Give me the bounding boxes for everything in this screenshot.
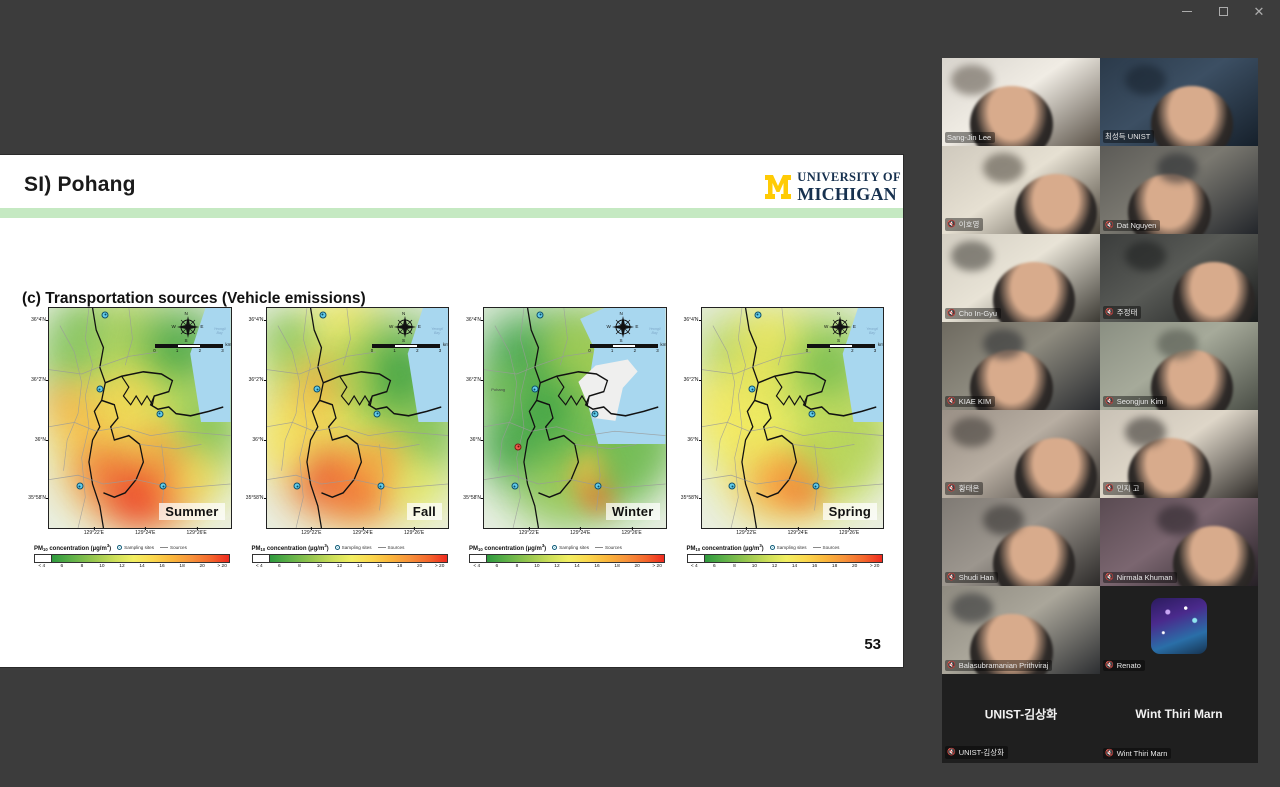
muted-mic-icon: 🔇 (947, 221, 956, 228)
legend-sampling-sites: Sampling sites (552, 545, 589, 550)
colorbar-legend: PM10 concentration (µg/m3) Sampling site… (34, 543, 230, 572)
participant-name: Nirmala Khuman (1117, 573, 1173, 582)
colorbar-tick: 18 (397, 564, 402, 569)
colorbar-tick: 14 (574, 564, 579, 569)
y-axis: 36°4'N36°2'N36°N35°58'N (675, 307, 701, 529)
y-axis: 36°4'N36°2'N36°N35°58'N (240, 307, 266, 529)
scalebar-tick: 1 (176, 348, 178, 353)
participant-tile[interactable]: 최성득 UNIST (1100, 58, 1258, 146)
y-axis: 36°4'N36°2'N36°N35°58'N (457, 307, 483, 529)
colorbar-tick: 6 (496, 564, 499, 569)
x-tick-label: 129°24'E (135, 530, 155, 536)
legend-sampling-sites: Sampling sites (770, 545, 807, 550)
participant-tile[interactable]: Wint Thiri Marn 🔇 Wint Thiri Marn (1100, 674, 1258, 762)
map-scalebar: 0123 km (807, 344, 875, 356)
place-label: Pohang (491, 387, 505, 392)
colorbar-tick: 8 (516, 564, 519, 569)
legend-sampling-sites: Sampling sites (335, 545, 372, 550)
participant-name: Wint Thiri Marn (1117, 749, 1168, 758)
concentration-map: N S E W YeongilBay Pohang (483, 307, 667, 529)
colorbar-tick: < 4 (256, 564, 263, 569)
colorbar-tick: 16 (812, 564, 817, 569)
colorbar-tick: 12 (337, 564, 342, 569)
zoom-meeting-window: ✕ SI) Pohang UNIVERSITY OF MICHIGAN (0, 0, 1280, 787)
season-label: Fall (407, 503, 442, 520)
sampling-site-marker (294, 483, 301, 490)
participant-name-badge: 🔇 Seongjun Kim (1103, 396, 1167, 407)
sampling-site-marker (96, 386, 103, 393)
sampling-site-marker (595, 483, 602, 490)
circle-marker-icon (552, 545, 557, 550)
season-label: Spring (823, 503, 877, 520)
map-figure: 36°4'N36°2'N36°N35°58'N (675, 307, 885, 529)
avatar (1151, 598, 1207, 654)
y-tick-label: 36°2'N (684, 377, 699, 383)
muted-mic-icon: 🔇 (947, 398, 956, 405)
participant-name-badge: 🔇 민지 고 (1103, 482, 1144, 495)
colorbar-tick: 12 (554, 564, 559, 569)
colorbar-title: PM10 concentration (µg/m3) (687, 543, 764, 552)
scalebar-tick: 1 (611, 348, 613, 353)
muted-mic-icon: 🔇 (947, 749, 956, 756)
colorbar-tick: 6 (713, 564, 716, 569)
colorbar-tick: > 20 (435, 564, 444, 569)
participant-name-badge: 🔇 Nirmala Khuman (1103, 572, 1177, 583)
colorbar-tick: 14 (139, 564, 144, 569)
colorbar-title: PM10 concentration (µg/m3) (469, 543, 546, 552)
colorbar-tick: 10 (752, 564, 757, 569)
colorbar-tick: 20 (199, 564, 204, 569)
x-axis: 129°22'E129°24'E129°26'E (483, 529, 667, 541)
y-tick-label: 36°4'N (31, 317, 46, 323)
participant-name: Shudi Han (959, 573, 994, 582)
logo-line-1: UNIVERSITY OF (797, 171, 901, 184)
sampling-site-marker (374, 410, 381, 417)
participant-name-badge: 🔇 황태온 (945, 482, 983, 495)
participant-tile[interactable]: Sang-Jin Lee (942, 58, 1100, 146)
colorbar-gradient (252, 554, 448, 563)
colorbar-tick: > 20 (217, 564, 226, 569)
colorbar-legend: PM10 concentration (µg/m3) Sampling site… (687, 543, 883, 572)
shared-screen-area: SI) Pohang UNIVERSITY OF MICHIGAN (c) Tr… (0, 22, 938, 787)
participant-tile[interactable]: 🔇 Seongjun Kim (1100, 322, 1258, 410)
colorbar-legend: PM10 concentration (µg/m3) Sampling site… (469, 543, 665, 572)
bay-label: YeongilBay (431, 328, 443, 336)
line-marker-icon (595, 547, 603, 548)
participant-name-badge: 최성득 UNIST (1103, 130, 1154, 143)
muted-mic-icon: 🔇 (1105, 398, 1114, 405)
map-figure: 36°4'N36°2'N36°N35°58'N (22, 307, 232, 529)
scalebar-tick: 0 (588, 348, 590, 353)
participant-tile[interactable]: UNIST-김상화 🔇 UNIST-김상화 (942, 674, 1100, 762)
sampling-site-marker (531, 386, 538, 393)
x-axis: 129°22'E129°24'E129°26'E (701, 529, 885, 541)
sampling-site-marker (749, 386, 756, 393)
participant-name-badge: 🔇 주정태 (1103, 306, 1141, 319)
scalebar-tick: 2 (199, 348, 201, 353)
map-panel-winter: 36°4'N36°2'N36°N35°58'N (457, 307, 667, 567)
y-tick-label: 36°N (35, 437, 46, 443)
map-figure: 36°4'N36°2'N36°N35°58'N (457, 307, 667, 529)
y-tick-label: 35°58'N (28, 495, 46, 501)
participant-name-badge: 🔇 UNIST-김상화 (945, 746, 1008, 759)
scalebar-tick: 2 (634, 348, 636, 353)
colorbar-tick: > 20 (870, 564, 879, 569)
colorbar-gradient (34, 554, 230, 563)
participant-name: KIAE KIM (959, 397, 992, 406)
colorbar-tick: < 4 (473, 564, 480, 569)
colorbar-tick: 8 (81, 564, 84, 569)
map-scalebar: 0123 km (155, 344, 223, 356)
colorbar-legend: PM10 concentration (µg/m3) Sampling site… (252, 543, 448, 572)
close-icon[interactable]: ✕ (1252, 4, 1266, 18)
concentration-map: N S E W YeongilBay (48, 307, 232, 529)
muted-mic-icon: 🔇 (1105, 662, 1114, 669)
scalebar-unit: km (225, 342, 231, 347)
participant-tile[interactable]: 🔇 Nirmala Khuman (1100, 498, 1258, 586)
y-tick-label: 36°2'N (31, 377, 46, 383)
participant-name: Cho In-Gyu (959, 309, 997, 318)
scalebar-tick: 3 (656, 348, 658, 353)
scalebar-tick: 2 (416, 348, 418, 353)
muted-mic-icon: 🔇 (947, 310, 956, 317)
compass-rose-icon: N S E W (173, 312, 203, 342)
participant-name-badge: 🔇 Renato (1103, 660, 1145, 671)
y-tick-label: 36°4'N (249, 317, 264, 323)
participant-tile[interactable]: 🔇 Cho In-Gyu (942, 234, 1100, 322)
participant-name: 최성득 UNIST (1105, 131, 1150, 142)
scalebar-unit: km (443, 342, 449, 347)
participant-tile[interactable]: 🔇 Dat Nguyen (1100, 146, 1258, 234)
x-tick-label: 129°24'E (570, 530, 590, 536)
participant-tile[interactable]: 🔇 황태온 (942, 410, 1100, 498)
y-tick-label: 36°4'N (684, 317, 699, 323)
y-tick-label: 35°58'N (681, 495, 699, 501)
participant-name: Dat Nguyen (1117, 221, 1157, 230)
colorbar-tick: 12 (119, 564, 124, 569)
bay-label: YeongilBay (649, 328, 661, 336)
window-titlebar: ✕ (0, 0, 1280, 22)
scalebar-unit: km (660, 342, 666, 347)
y-tick-label: 36°4'N (466, 317, 481, 323)
concentration-map: N S E W YeongilBay (266, 307, 450, 529)
map-scalebar: 0123 km (372, 344, 440, 356)
season-label: Winter (606, 503, 660, 520)
map-panel-row: 36°4'N36°2'N36°N35°58'N (22, 307, 884, 567)
participant-name-badge: Sang-Jin Lee (945, 132, 995, 143)
colorbar-tick: 6 (278, 564, 281, 569)
participant-name-badge: 🔇 Shudi Han (945, 572, 998, 583)
colorbar-tick: 16 (594, 564, 599, 569)
participant-name-badge: 🔇 Balasubramanian Prithviraj (945, 660, 1052, 671)
participant-name: Balasubramanian Prithviraj (959, 661, 1049, 670)
compass-rose-icon: N S E W (390, 312, 420, 342)
logo-line-2: MICHIGAN (797, 185, 901, 203)
sampling-site-marker (754, 311, 761, 318)
colorbar-tick: 20 (852, 564, 857, 569)
legend-sampling-sites: Sampling sites (117, 545, 154, 550)
y-tick-label: 36°N (687, 437, 698, 443)
participant-placeholder-name: UNIST-김상화 (942, 706, 1100, 723)
y-tick-label: 35°58'N (246, 495, 264, 501)
sampling-site-marker (314, 386, 321, 393)
participant-name-badge: 🔇 Cho In-Gyu (945, 308, 1001, 319)
participant-name: Renato (1117, 661, 1141, 670)
section-label: (c) Transportation sources (Vehicle emis… (22, 290, 366, 308)
y-tick-label: 36°N (470, 437, 481, 443)
participant-placeholder-name: Wint Thiri Marn (1100, 707, 1258, 721)
x-tick-label: 129°24'E (353, 530, 373, 536)
participant-tile[interactable]: 🔇 주정태 (1100, 234, 1258, 322)
line-marker-icon (160, 547, 168, 548)
muted-mic-icon: 🔇 (947, 662, 956, 669)
slide-header: SI) Pohang UNIVERSITY OF MICHIGAN (0, 155, 903, 207)
colorbar-tick: < 4 (38, 564, 45, 569)
sampling-site-marker (377, 483, 384, 490)
map-panel-fall: 36°4'N36°2'N36°N35°58'N (240, 307, 450, 567)
legend-sources: Sources (813, 545, 840, 550)
bay-label: YeongilBay (866, 328, 878, 336)
colorbar-tick: 8 (298, 564, 301, 569)
sampling-site-marker (591, 410, 598, 417)
sampling-site-marker (537, 311, 544, 318)
y-tick-label: 36°2'N (249, 377, 264, 383)
bay-label: YeongilBay (214, 328, 226, 336)
muted-mic-icon: 🔇 (1105, 750, 1114, 757)
participant-name: 주정태 (1117, 307, 1138, 318)
x-axis: 129°22'E129°24'E129°26'E (48, 529, 232, 541)
legend-sources: Sources (595, 545, 622, 550)
circle-marker-icon (770, 545, 775, 550)
muted-mic-icon: 🔇 (947, 485, 956, 492)
colorbar-tick: 14 (792, 564, 797, 569)
muted-mic-icon: 🔇 (1105, 309, 1114, 316)
y-tick-label: 36°N (252, 437, 263, 443)
compass-rose-icon: N S E W (825, 312, 855, 342)
x-tick-label: 129°26'E (839, 530, 859, 536)
colorbar-tick: 18 (614, 564, 619, 569)
participant-tile[interactable]: 🔇 이호영 (942, 146, 1100, 234)
participant-name: 민지 고 (1117, 483, 1140, 494)
muted-mic-icon: 🔇 (947, 574, 956, 581)
x-tick-label: 129°26'E (404, 530, 424, 536)
x-tick-label: 129°26'E (622, 530, 642, 536)
colorbar-tick: 10 (534, 564, 539, 569)
colorbar-tick: 10 (99, 564, 104, 569)
colorbar-tick: 10 (317, 564, 322, 569)
sampling-site-marker (729, 483, 736, 490)
participant-tile[interactable]: 🔇 Balasubramanian Prithviraj (942, 586, 1100, 674)
legend-sources: Sources (378, 545, 405, 550)
sampling-site-marker (76, 483, 83, 490)
x-axis: 129°22'E129°24'E129°26'E (266, 529, 450, 541)
x-tick-label: 129°24'E (788, 530, 808, 536)
map-panel-spring: 36°4'N36°2'N36°N35°58'N (675, 307, 885, 567)
participant-tile[interactable]: 🔇 KIAE KIM (942, 322, 1100, 410)
sampling-site-marker (160, 483, 167, 490)
colorbar-tick: 12 (772, 564, 777, 569)
presentation-slide: SI) Pohang UNIVERSITY OF MICHIGAN (c) Tr… (0, 155, 903, 667)
sampling-site-marker (511, 483, 518, 490)
scalebar-tick: 3 (439, 348, 441, 353)
maximize-icon[interactable] (1216, 4, 1230, 18)
circle-marker-icon (335, 545, 340, 550)
colorbar-tick: 20 (417, 564, 422, 569)
legend-sources: Sources (160, 545, 187, 550)
map-panel-summer: 36°4'N36°2'N36°N35°58'N (22, 307, 232, 567)
scalebar-tick: 0 (806, 348, 808, 353)
map-figure: 36°4'N36°2'N36°N35°58'N (240, 307, 450, 529)
sampling-site-marker (156, 410, 163, 417)
colorbar-tick: 20 (634, 564, 639, 569)
participant-name: UNIST-김상화 (959, 747, 1004, 758)
colorbar-title: PM10 concentration (µg/m3) (252, 543, 329, 552)
participant-name: 황태온 (959, 483, 980, 494)
colorbar-tick: 6 (61, 564, 64, 569)
muted-mic-icon: 🔇 (1105, 574, 1114, 581)
concentration-map: N S E W YeongilBay (701, 307, 885, 529)
colorbar-tick: 16 (159, 564, 164, 569)
season-label: Summer (159, 503, 224, 520)
scalebar-tick: 3 (874, 348, 876, 353)
colorbar-tick: > 20 (652, 564, 661, 569)
colorbar-gradient (469, 554, 665, 563)
participant-name: Sang-Jin Lee (947, 133, 991, 142)
scalebar-tick: 2 (851, 348, 853, 353)
participant-gallery: Sang-Jin Lee 최성득 UNIST 🔇 이호영 🔇 Dat Nguye… (942, 58, 1258, 763)
participant-name: Seongjun Kim (1117, 397, 1164, 406)
colorbar-tick: 18 (179, 564, 184, 569)
minimize-icon[interactable] (1180, 4, 1194, 18)
participant-name-badge: 🔇 KIAE KIM (945, 396, 995, 407)
x-tick-label: 129°22'E (736, 530, 756, 536)
scalebar-tick: 0 (153, 348, 155, 353)
y-axis: 36°4'N36°2'N36°N35°58'N (22, 307, 48, 529)
line-marker-icon (378, 547, 386, 548)
block-m-icon (764, 172, 792, 202)
scalebar-tick: 0 (371, 348, 373, 353)
sampling-site-marker (812, 483, 819, 490)
participant-tile[interactable]: 🔇 Renato (1100, 586, 1258, 674)
colorbar-gradient (687, 554, 883, 563)
scalebar-tick: 1 (393, 348, 395, 353)
slide-accent-bar (0, 208, 903, 218)
x-tick-label: 129°22'E (84, 530, 104, 536)
colorbar-tick: 8 (733, 564, 736, 569)
participant-name-badge: 🔇 Dat Nguyen (1103, 220, 1160, 231)
participant-name-badge: 🔇 Wint Thiri Marn (1103, 748, 1171, 759)
compass-rose-icon: N S E W (608, 312, 638, 342)
sampling-site-marker (809, 410, 816, 417)
sampling-site-marker (102, 311, 109, 318)
colorbar-tick: 14 (357, 564, 362, 569)
source-marker (515, 443, 522, 450)
scalebar-tick: 3 (221, 348, 223, 353)
participant-name-badge: 🔇 이호영 (945, 218, 983, 231)
circle-marker-icon (117, 545, 122, 550)
muted-mic-icon: 🔇 (1105, 222, 1114, 229)
x-tick-label: 129°22'E (519, 530, 539, 536)
map-scalebar: 0123 km (590, 344, 658, 356)
participant-tile[interactable]: 🔇 Shudi Han (942, 498, 1100, 586)
scalebar-tick: 1 (828, 348, 830, 353)
colorbar-tick: 16 (377, 564, 382, 569)
line-marker-icon (813, 547, 821, 548)
x-tick-label: 129°22'E (301, 530, 321, 536)
muted-mic-icon: 🔇 (1105, 485, 1114, 492)
slide-page-number: 53 (864, 636, 881, 653)
colorbar-tick: < 4 (691, 564, 698, 569)
x-tick-label: 129°26'E (187, 530, 207, 536)
colorbar-title: PM10 concentration (µg/m3) (34, 543, 111, 552)
sampling-site-marker (319, 311, 326, 318)
page-title: SI) Pohang (24, 173, 136, 197)
y-tick-label: 36°2'N (466, 377, 481, 383)
participant-tile[interactable]: 🔇 민지 고 (1100, 410, 1258, 498)
y-tick-label: 35°58'N (463, 495, 481, 501)
participant-name: 이호영 (959, 219, 980, 230)
university-logo: UNIVERSITY OF MICHIGAN (764, 171, 901, 203)
scalebar-unit: km (878, 342, 884, 347)
colorbar-tick: 18 (832, 564, 837, 569)
